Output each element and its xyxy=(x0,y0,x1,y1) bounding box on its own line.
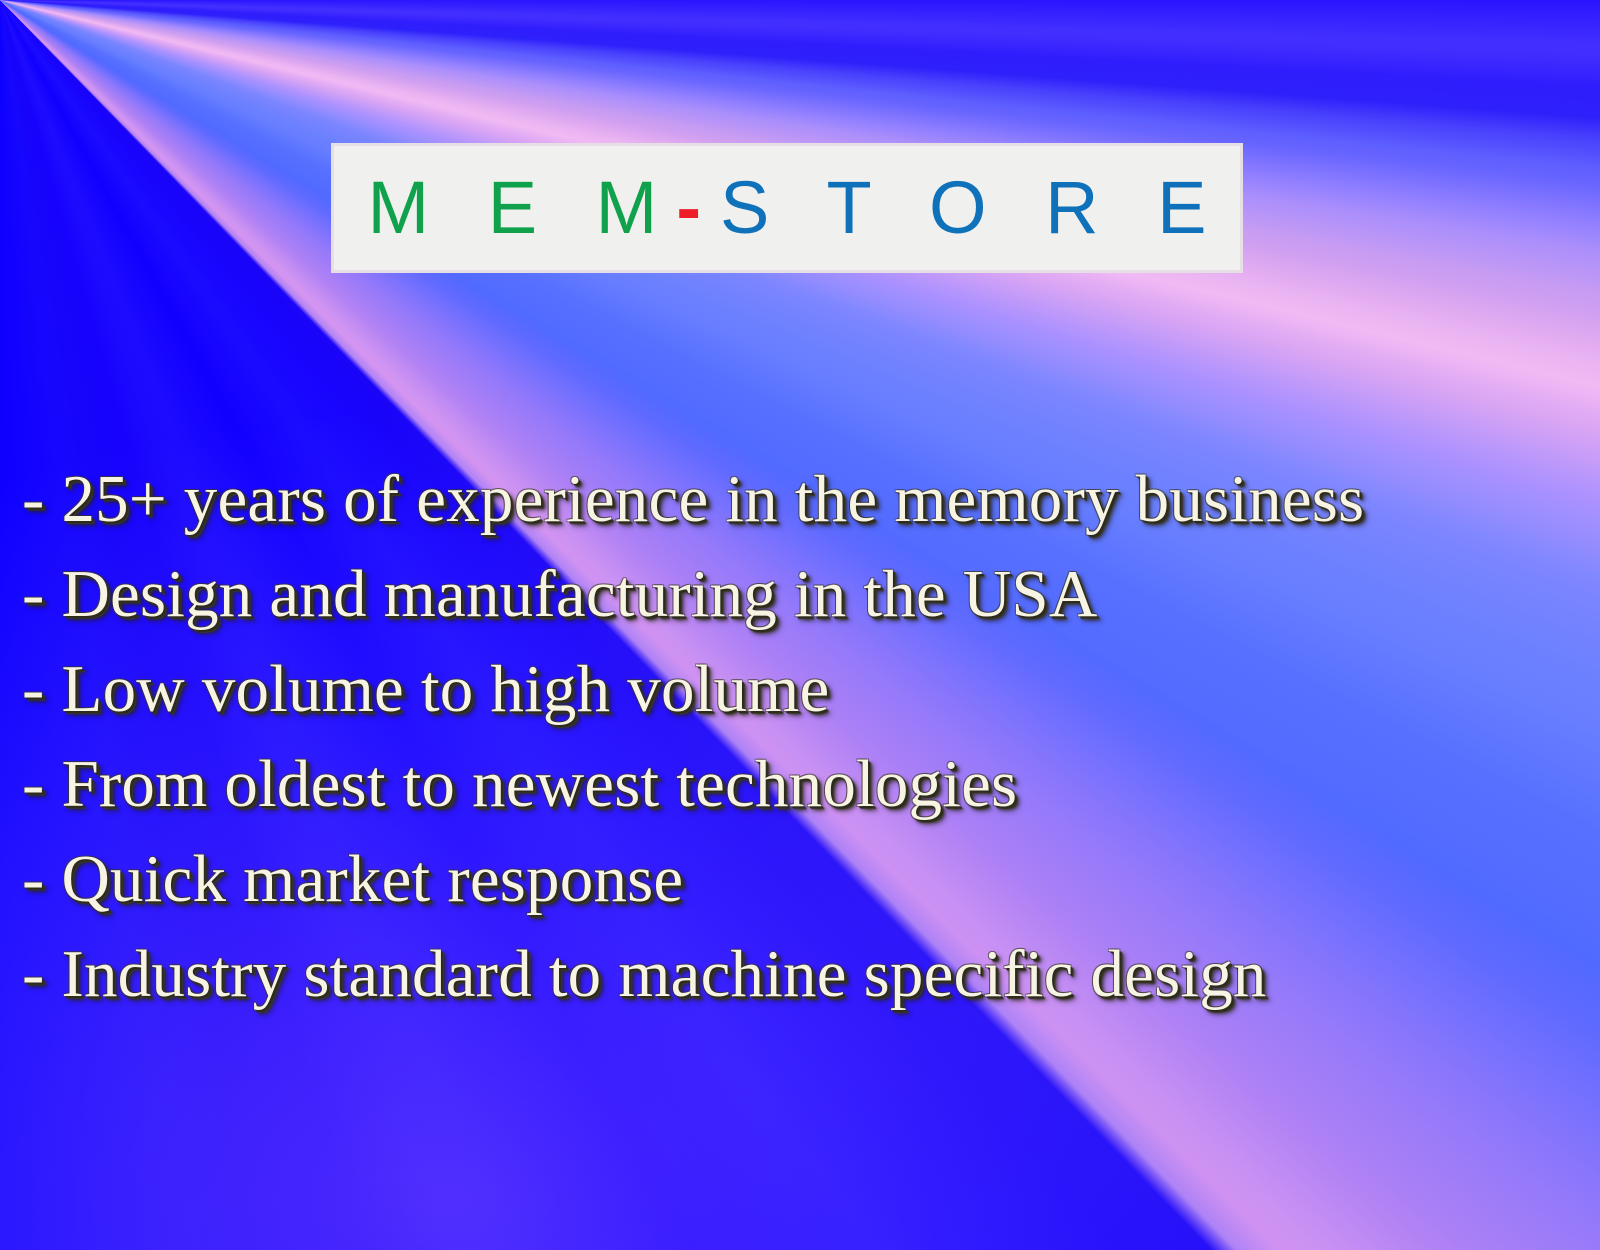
presentation-slide: M E M-S T O R E - 25+ years of experienc… xyxy=(0,0,1600,1250)
bullet-item-5: - Quick market response xyxy=(22,832,1582,927)
company-logo-plate: M E M-S T O R E xyxy=(331,143,1243,273)
bullet-item-1: - 25+ years of experience in the memory … xyxy=(22,452,1582,547)
logo-text-store: S T O R E xyxy=(720,166,1225,249)
bullet-item-3: - Low volume to high volume xyxy=(22,642,1582,737)
bullet-list: - 25+ years of experience in the memory … xyxy=(22,452,1582,1022)
company-logo-text: M E M-S T O R E xyxy=(349,171,1226,245)
logo-text-separator: - xyxy=(676,166,720,249)
logo-text-mem: M E M xyxy=(368,166,677,249)
bullet-item-4: - From oldest to newest technologies xyxy=(22,737,1582,832)
bullet-item-2: - Design and manufacturing in the USA xyxy=(22,547,1582,642)
bullet-item-6: - Industry standard to machine specific … xyxy=(22,927,1582,1022)
